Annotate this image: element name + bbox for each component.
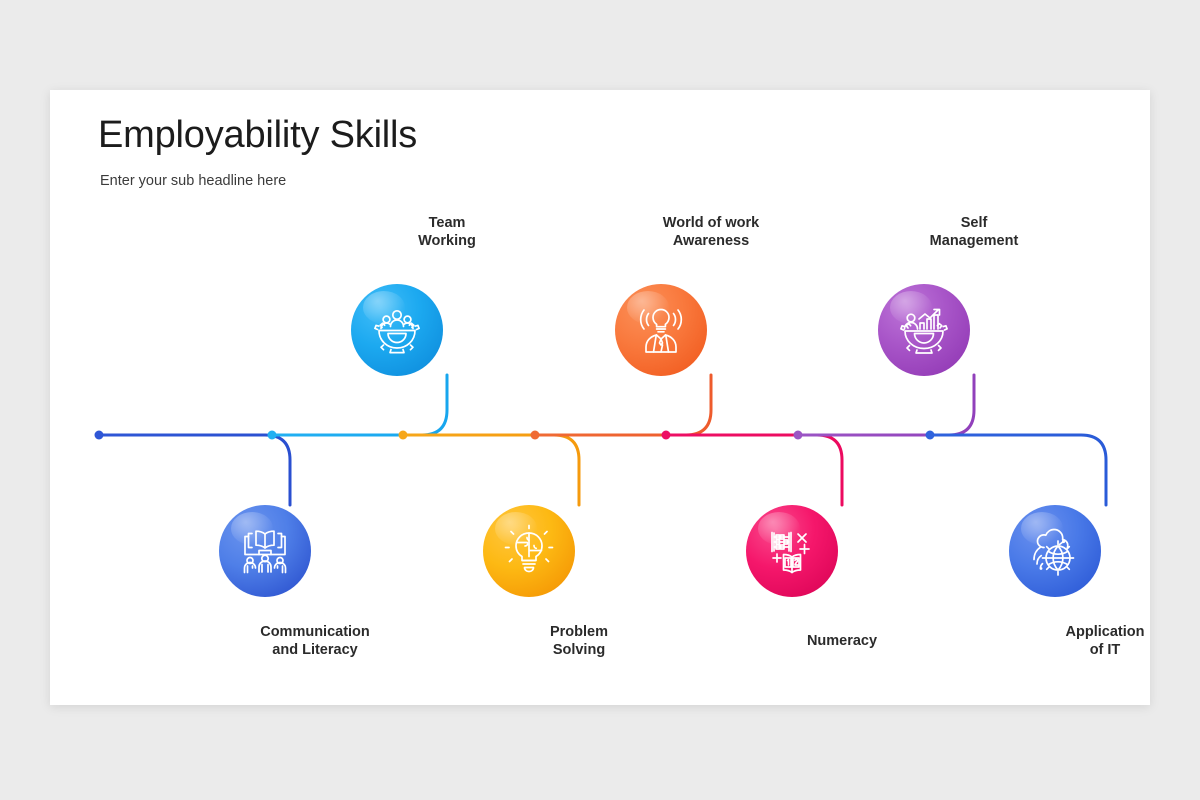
abacus-math-book-icon bbox=[764, 523, 820, 579]
node-circle-application-of-it[interactable] bbox=[1009, 505, 1101, 597]
node-label-numeracy: Numeracy bbox=[732, 632, 952, 650]
node-circle-team-working[interactable] bbox=[351, 284, 443, 376]
cloud-globe-gear-icon bbox=[1027, 523, 1083, 579]
node-label-communication-and-literacy: Communication and Literacy bbox=[205, 623, 425, 659]
node-label-world-of-work-awareness: World of work Awareness bbox=[601, 214, 821, 250]
connector-dot bbox=[662, 431, 671, 440]
node-circle-numeracy[interactable] bbox=[746, 505, 838, 597]
node-circle-self-management[interactable] bbox=[878, 284, 970, 376]
node-label-application-of-it: Application of IT bbox=[995, 623, 1200, 659]
connector-dot bbox=[268, 431, 277, 440]
connector-dot bbox=[531, 431, 540, 440]
node-label-problem-solving: Problem Solving bbox=[469, 623, 689, 659]
slide-card: Employability Skills Enter your sub head… bbox=[50, 90, 1150, 705]
lightbulb-puzzle-icon bbox=[501, 523, 557, 579]
node-label-self-management: Self Management bbox=[864, 214, 1084, 250]
node-label-team-working: Team Working bbox=[337, 214, 557, 250]
node-circle-communication-and-literacy[interactable] bbox=[219, 505, 311, 597]
book-with-people-icon bbox=[237, 523, 293, 579]
team-in-gear-icon bbox=[369, 302, 425, 358]
connector-dot bbox=[794, 431, 803, 440]
timeline-connector-lines bbox=[50, 90, 1150, 705]
node-circle-world-of-work-awareness[interactable] bbox=[615, 284, 707, 376]
person-chart-gear-icon bbox=[896, 302, 952, 358]
node-circle-problem-solving[interactable] bbox=[483, 505, 575, 597]
person-idea-broadcast-icon bbox=[633, 302, 689, 358]
connector-dot bbox=[399, 431, 408, 440]
connector-dot bbox=[926, 431, 935, 440]
connector-dot bbox=[95, 431, 104, 440]
